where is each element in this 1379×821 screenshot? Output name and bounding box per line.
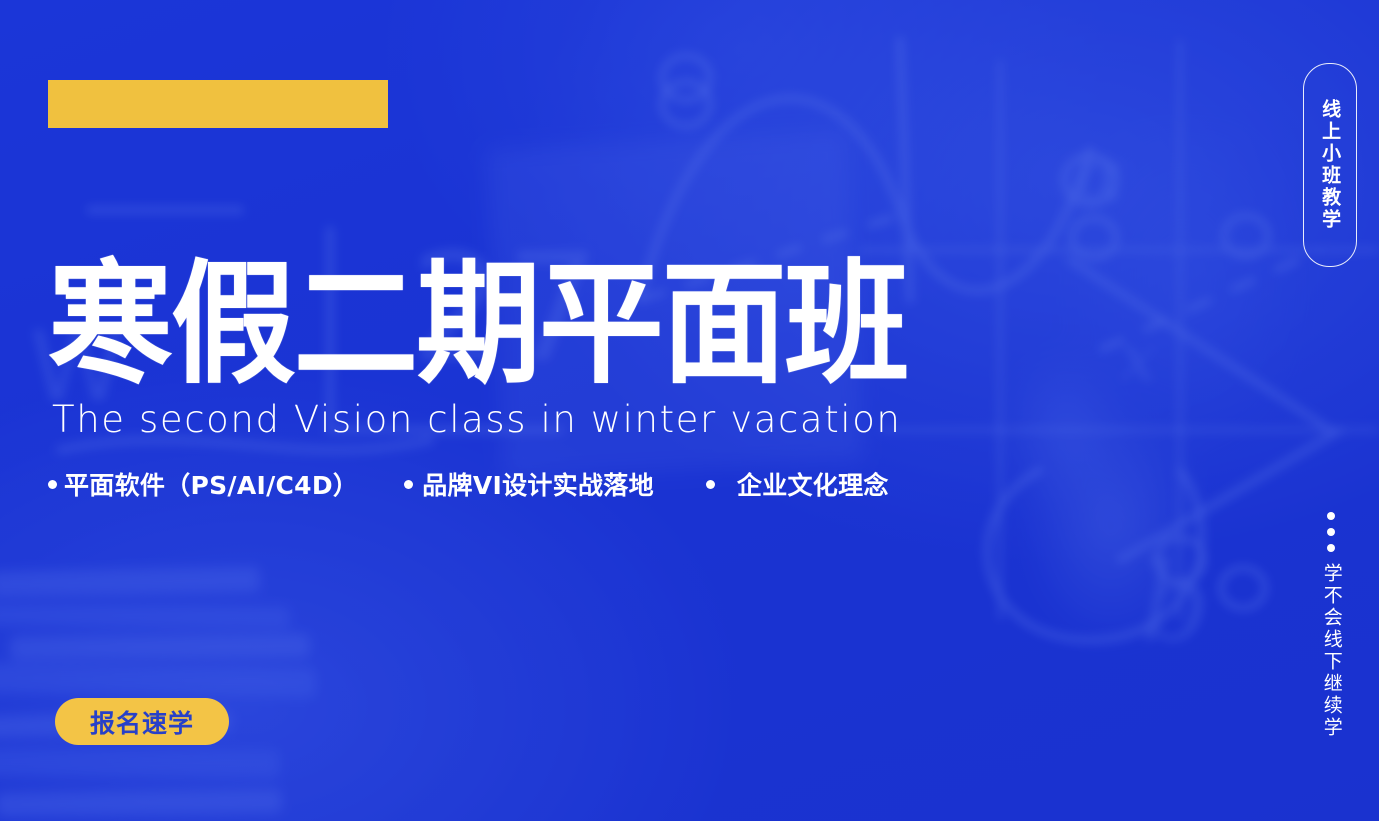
- bullet-dot-icon: [48, 480, 57, 489]
- bullet-dot-icon: [404, 480, 413, 489]
- promo-poster: 27 W b α x 寒假二期平面班 The secon: [0, 0, 1379, 821]
- feature-label: 平面软件（PS/AI/C4D）: [64, 466, 358, 502]
- three-dots-icon: [1327, 512, 1335, 552]
- online-class-badge: 线上小班教学: [1303, 63, 1357, 267]
- bullet-dot-icon: [706, 480, 715, 489]
- guarantee-slogan-label: 学不会线下继续学: [1318, 563, 1343, 739]
- feature-label: 品牌VI设计实战落地: [422, 466, 654, 502]
- enroll-button[interactable]: 报名速学: [55, 698, 229, 745]
- poster-content: 寒假二期平面班 The second Vision class in winte…: [0, 0, 1379, 821]
- feature-item-software: 平面软件（PS/AI/C4D）: [48, 466, 358, 502]
- feature-item-culture: 企业文化理念: [706, 466, 889, 502]
- online-class-badge-label: 线上小班教学: [1317, 99, 1343, 231]
- page-title: 寒假二期平面班: [48, 258, 939, 392]
- yellow-accent-bar: [48, 80, 388, 128]
- headline-block: 寒假二期平面班 The second Vision class in winte…: [48, 258, 948, 441]
- page-subtitle: The second Vision class in winter vacati…: [52, 398, 948, 441]
- guarantee-slogan: 学不会线下继续学: [1309, 512, 1353, 739]
- feature-list: 平面软件（PS/AI/C4D） 品牌VI设计实战落地 企业文化理念: [48, 466, 889, 502]
- feature-label: 企业文化理念: [737, 466, 889, 502]
- feature-item-brand-vi: 品牌VI设计实战落地: [404, 466, 654, 502]
